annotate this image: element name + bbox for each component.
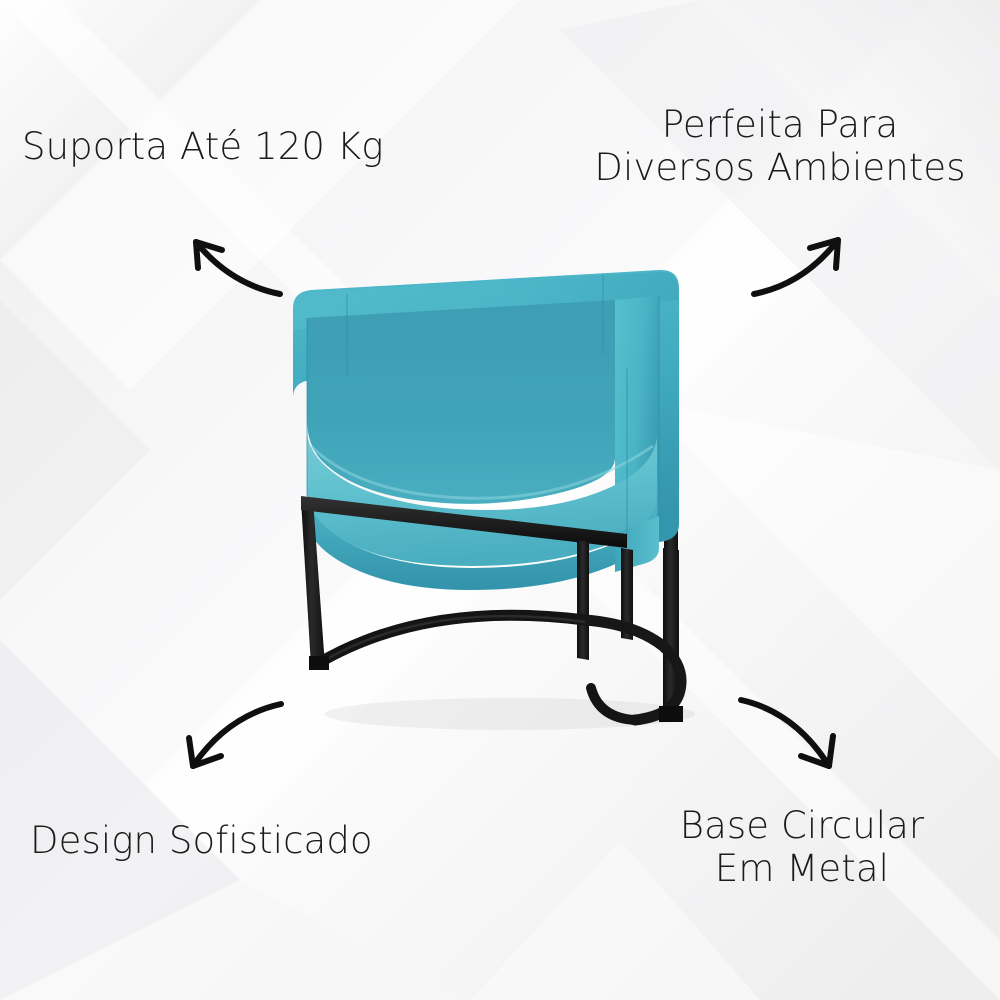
base-ring-front-left — [317, 615, 585, 664]
armchair-svg — [255, 248, 755, 758]
infographic-canvas: Suporta Até 120 Kg Perfeita Para Diverso… — [0, 0, 1000, 1000]
leg-middle — [577, 540, 589, 660]
foot-left — [309, 656, 329, 670]
callout-label-top-left: Suporta Até 120 Kg — [22, 126, 384, 169]
product-image-armchair — [255, 248, 755, 758]
foot-right — [659, 706, 683, 722]
curved-arrow-up-right-icon — [748, 212, 868, 302]
callout-label-top-right: Perfeita Para Diversos Ambientes — [570, 104, 990, 190]
callout-label-bottom-right: Base Circular Em Metal — [632, 805, 972, 891]
callout-label-bottom-left: Design Sofisticado — [30, 820, 373, 863]
